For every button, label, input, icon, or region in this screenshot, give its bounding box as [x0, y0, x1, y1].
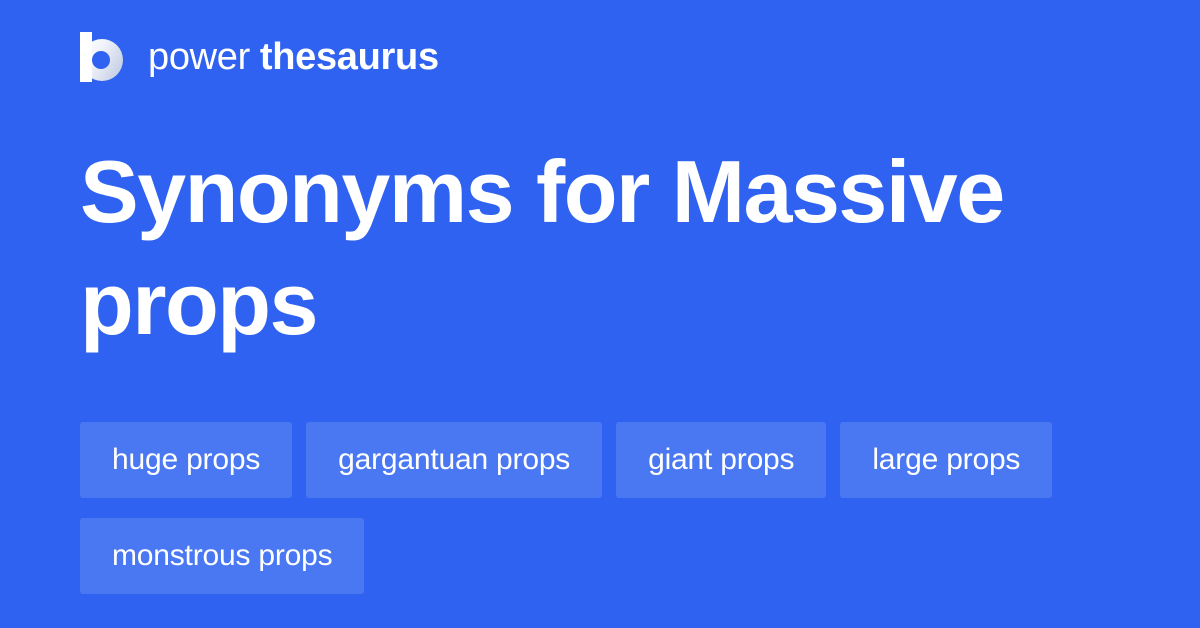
page-title-line-1: Synonyms for Massive	[80, 136, 1080, 248]
social-card-canvas: power thesaurus Synonyms for Massive pro…	[0, 0, 1200, 628]
page-title: Synonyms for Massive props	[80, 136, 1080, 360]
synonym-chip[interactable]: monstrous props	[80, 518, 364, 594]
synonym-chip[interactable]: large props	[840, 422, 1052, 498]
brand-word-thesaurus: thesaurus	[260, 38, 439, 76]
power-thesaurus-logo-icon	[80, 32, 126, 82]
synonym-chip[interactable]: giant props	[616, 422, 826, 498]
brand-wordmark: power thesaurus	[148, 38, 439, 76]
synonym-chip[interactable]: gargantuan props	[306, 422, 602, 498]
brand-header[interactable]: power thesaurus	[80, 28, 439, 86]
brand-word-power: power	[148, 38, 250, 76]
page-title-line-2: props	[80, 248, 1080, 360]
synonym-chip-list: huge props gargantuan props giant props …	[80, 422, 1140, 594]
synonym-chip[interactable]: huge props	[80, 422, 292, 498]
